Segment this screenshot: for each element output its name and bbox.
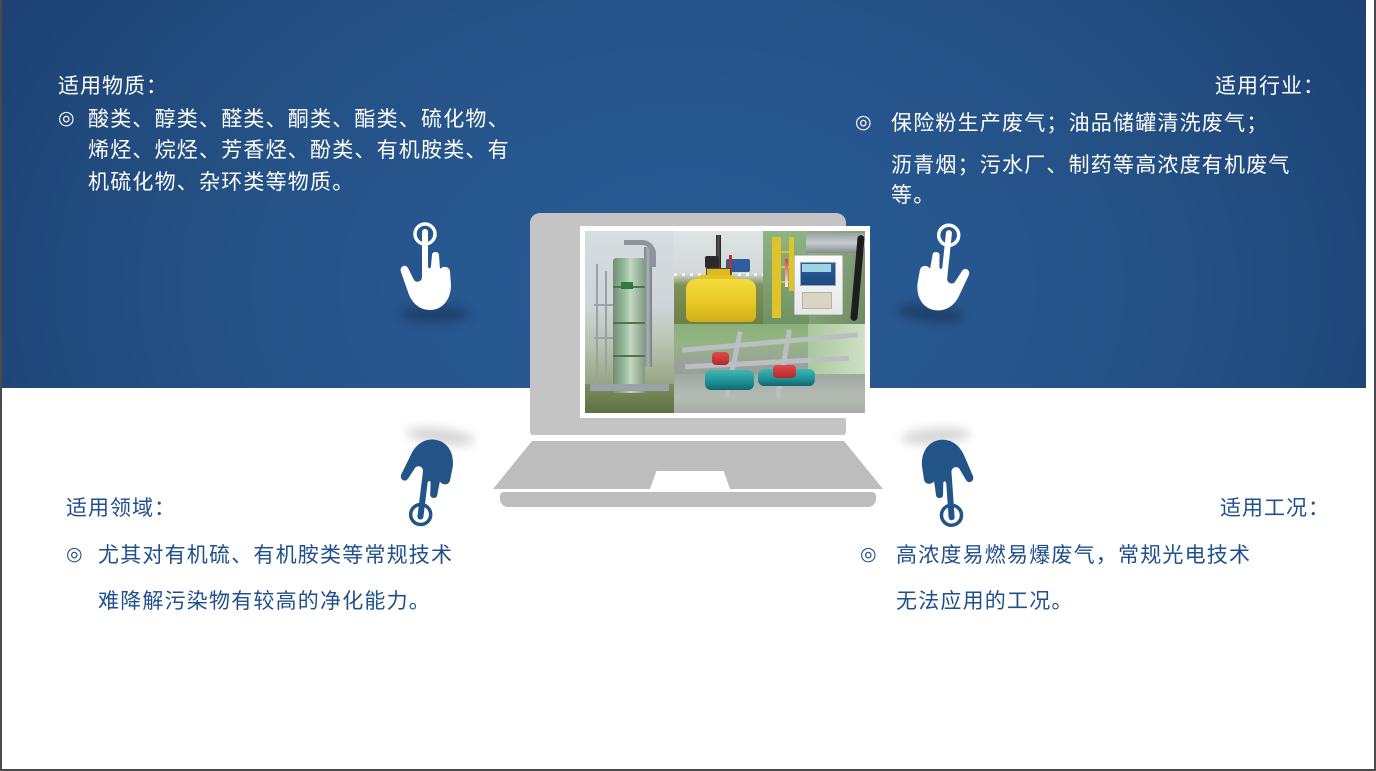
panel-applicable-substances: 适用物质： ◎ 酸类、醇类、醛类、酮类、酯类、硫化物、烯烃、烷烃、芳香烃、酚类、… — [58, 72, 528, 198]
photo-scaffold — [594, 337, 614, 339]
panel-body-conditions-line2: 无法应用的工况。 — [860, 585, 1330, 615]
panel-body-fields-line2: 难降解污染物有较高的净化能力。 — [66, 585, 546, 615]
panel-body-substances: 酸类、醇类、醛类、酮类、酯类、硫化物、烯烃、烷烃、芳香烃、酚类、有机胺类、有机硫… — [88, 104, 518, 197]
laptop-screen-bezel — [530, 213, 846, 435]
slide-canvas: 适用物质： ◎ 酸类、醇类、醛类、酮类、酯类、硫化物、烯烃、烷烃、芳香烃、酚类、… — [0, 0, 1376, 771]
panel-heading-industries: 适用行业： — [855, 72, 1325, 100]
bullet-row-industries: ◎ 保险粉生产废气；油品储罐清洗废气； — [855, 108, 1325, 139]
photo-panel-window — [802, 292, 833, 309]
panel-applicable-industries: 适用行业： ◎ 保险粉生产废气；油品储罐清洗废气； 沥青烟；污水厂、制药等高浓度… — [855, 72, 1325, 209]
bullet-row-substances: ◎ 酸类、醇类、醛类、酮类、酯类、硫化物、烯烃、烷烃、芳香烃、酚类、有机胺类、有… — [58, 104, 528, 197]
bullet-marker-icon: ◎ — [860, 540, 896, 568]
pointing-hand-cursor-icon — [386, 427, 483, 533]
photo-tower-band — [613, 322, 645, 324]
bullet-marker-icon: ◎ — [58, 104, 88, 132]
photo-yellow-ladder-rail — [772, 237, 781, 319]
photo-scaffold — [594, 304, 614, 306]
photo-pipe-rack — [590, 384, 668, 391]
yellow-dosing-tank-photo — [674, 231, 763, 324]
control-panel-photo — [763, 231, 865, 324]
photo-yellow-tank — [686, 279, 755, 322]
photo-tower-band — [613, 355, 645, 357]
panel-body-fields-line1: 尤其对有机硫、有机胺类等常规技术 — [98, 540, 453, 571]
laptop-illustration — [493, 213, 883, 508]
pointing-hand-cursor-icon — [392, 222, 478, 318]
panel-heading-substances: 适用物质： — [58, 72, 528, 100]
photo-lcd-digits — [802, 264, 832, 271]
photo-pump-unit — [705, 370, 755, 390]
bullet-marker-icon: ◎ — [855, 108, 891, 136]
pump-skid-photo — [674, 324, 865, 413]
photo-red-valve-cap — [773, 365, 796, 378]
photo-mixer-motor-housing — [705, 256, 719, 268]
panel-body-conditions-line1: 高浓度易燃易爆废气，常规光电技术 — [896, 540, 1251, 571]
photo-collage — [585, 231, 865, 413]
photo-absorption-tower — [613, 258, 645, 393]
right-white-margin — [1366, 0, 1376, 771]
laptop-trackpad — [650, 471, 730, 489]
photo-red-valve-cap — [712, 352, 729, 364]
photo-scaffold — [596, 264, 598, 384]
photo-level-gauge — [785, 259, 788, 287]
panel-body-industries-line1: 保险粉生产废气；油品储罐清洗废气； — [891, 108, 1268, 139]
photo-scaffold — [605, 271, 607, 380]
laptop-front-edge — [500, 492, 876, 507]
pointing-hand-cursor-icon — [887, 218, 983, 322]
pointing-hand-cursor-icon — [893, 429, 985, 531]
bullet-row-conditions: ◎ 高浓度易燃易爆废气，常规光电技术 — [860, 540, 1330, 571]
photo-ladder-rung — [772, 266, 793, 268]
photo-tower-label — [621, 282, 633, 289]
photo-ladder-rung — [772, 281, 793, 283]
photo-ladder-rung — [772, 251, 793, 253]
panel-body-industries-line2: 沥青烟；污水厂、制药等高浓度有机废气等。 — [855, 149, 1325, 209]
bullet-row-fields: ◎ 尤其对有机硫、有机胺类等常规技术 — [66, 540, 546, 571]
green-scrubber-tower-photo — [585, 231, 674, 413]
bullet-marker-icon: ◎ — [66, 540, 98, 568]
